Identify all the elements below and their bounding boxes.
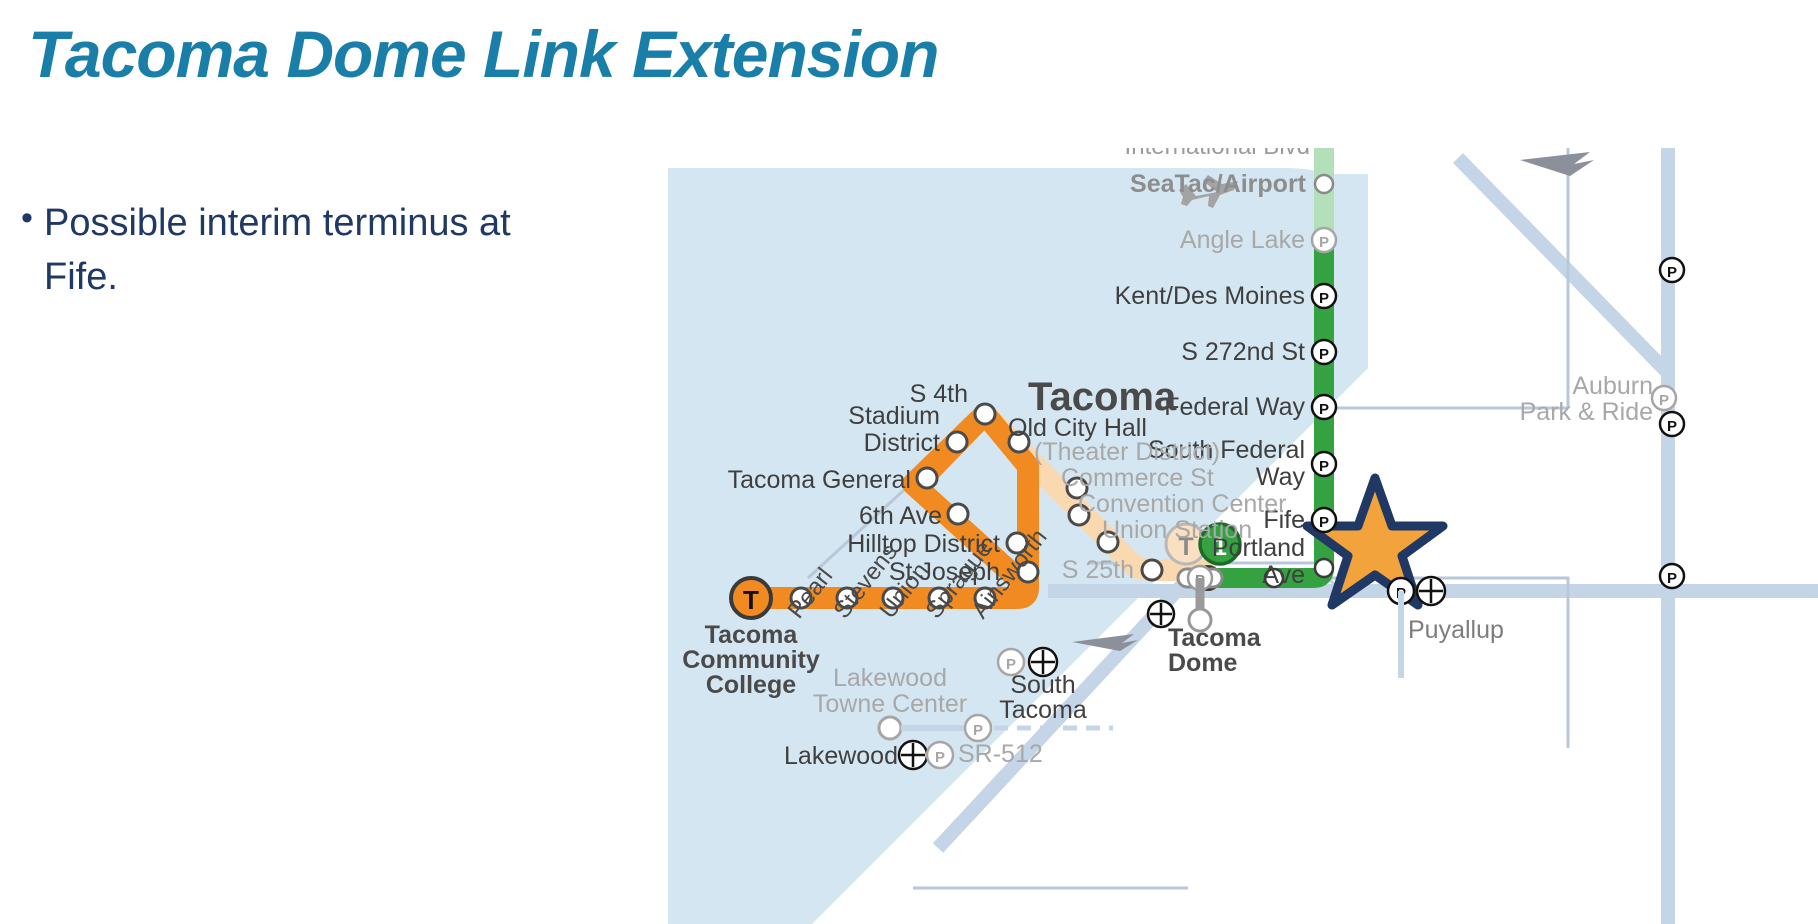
bullet-marker: • xyxy=(10,196,44,240)
terminus-badge-label: T xyxy=(743,585,759,615)
label-angle-lake: Angle Lake xyxy=(1180,226,1305,254)
svg-text:P: P xyxy=(1319,290,1329,307)
label-s-272nd-st: S 272nd St xyxy=(1181,338,1305,366)
bullet-text: Possible interim terminus at Fife. xyxy=(44,196,570,304)
label-south-tacoma-line1: South xyxy=(1010,671,1075,699)
label-tacoma: Tacoma xyxy=(1028,375,1177,419)
label-commerce-st: Commerce St xyxy=(1061,464,1214,492)
label-south-tacoma-line2: Tacoma xyxy=(999,696,1087,724)
label-south-federal-way-line2: Way xyxy=(1256,463,1306,491)
label-6th-ave: 6th Ave xyxy=(859,502,942,530)
svg-text:P: P xyxy=(1319,234,1329,251)
svg-text:P: P xyxy=(1319,514,1329,531)
svg-text:P: P xyxy=(1667,264,1677,281)
svg-text:P: P xyxy=(1667,418,1677,435)
svg-text:P: P xyxy=(973,722,983,739)
label-s-25th: S 25th xyxy=(1062,556,1134,584)
label-seatac-airport: SeaTac/Airport xyxy=(1130,170,1307,198)
transit-system-map: T T 1 P xyxy=(668,148,1818,924)
label-portland-ave-line2: Ave xyxy=(1262,561,1305,589)
svg-text:P: P xyxy=(1659,392,1669,409)
label-auburn-line2: Park & Ride xyxy=(1520,398,1653,426)
train-track-icon-ne xyxy=(1520,152,1594,176)
label-lakewood: Lakewood xyxy=(784,742,898,770)
label-stadium-district-line2: District xyxy=(864,429,940,457)
label-tcc-line3: College xyxy=(706,671,796,699)
page-title: Tacoma Dome Link Extension xyxy=(28,16,938,92)
label-theater-district: (Theater District) xyxy=(1034,438,1220,466)
label-lakewood-towne-center-line1: Lakewood xyxy=(833,664,947,692)
svg-text:P: P xyxy=(1319,401,1329,418)
label-tcc-line2: Community xyxy=(682,646,820,674)
label-puyallup: Puyallup xyxy=(1408,616,1504,644)
svg-text:P: P xyxy=(1667,570,1677,587)
label-tcc-line1: Tacoma xyxy=(705,621,799,649)
label-federal-way: Federal Way xyxy=(1164,393,1305,421)
label-tacoma-dome-line2: Dome xyxy=(1168,649,1238,677)
label-stadium-district-line1: Stadium xyxy=(848,402,940,430)
label-lakewood-towne-center-line2: Towne Center xyxy=(813,690,967,718)
bullet-list-item: • Possible interim terminus at Fife. xyxy=(10,196,570,304)
label-tacoma-dome-line1: Tacoma xyxy=(1168,624,1262,652)
label-convention-center: Convention Center xyxy=(1078,490,1286,518)
svg-text:P: P xyxy=(1319,346,1329,363)
label-auburn-line1: Auburn xyxy=(1572,372,1653,400)
tacoma-community-college-terminus[interactable]: T xyxy=(731,578,771,618)
label-tacoma-general: Tacoma General xyxy=(728,466,911,494)
svg-text:P: P xyxy=(1319,458,1329,475)
label-union-station: Union Station xyxy=(1102,516,1252,544)
label-international-blvd: International Blvd xyxy=(1125,148,1310,160)
label-sr-512: SR-512 xyxy=(958,740,1043,768)
label-kent-des-moines: Kent/Des Moines xyxy=(1115,282,1305,310)
slide-root: Tacoma Dome Link Extension • Possible in… xyxy=(0,0,1818,924)
svg-text:P: P xyxy=(935,749,945,766)
